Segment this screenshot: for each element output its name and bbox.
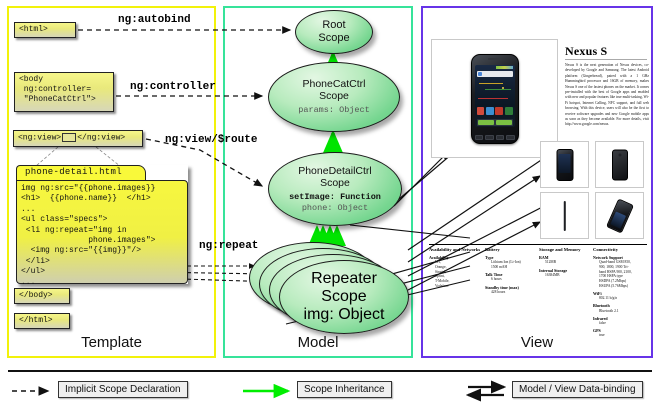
spec-group: Availability M1, Orange, Singtel, Sprint…	[429, 255, 481, 288]
search-button-icon	[496, 135, 505, 140]
code-html-open: <html>	[14, 22, 76, 38]
view-content: Nexus S Nexus S is the next generation o…	[425, 12, 649, 352]
scope-phonedetailctrl-title: PhoneDetailCtrl Scope	[298, 165, 372, 189]
dock-icon-1	[478, 120, 494, 125]
phone-hardware-buttons	[475, 135, 515, 140]
search-widget	[477, 71, 513, 77]
scope-repeater-title-line1: Repeater	[311, 270, 377, 287]
spec-group-value: 802.11 b/g/n	[593, 296, 649, 301]
thumb-front-image	[556, 149, 573, 181]
legend-item-scope-inheritance: Scope Inheritance	[297, 381, 392, 398]
phone-illustration	[471, 54, 519, 144]
spec-title-connectivity: Connectivity	[593, 247, 649, 253]
thumbnail-gallery	[540, 141, 648, 239]
spec-group-value: 1500 mAH	[485, 265, 537, 270]
spec-group: Talk Time 6 hours	[485, 272, 537, 282]
phone-screen	[475, 65, 515, 127]
scope-root-title-line1: Root	[322, 19, 345, 31]
spec-group-value: Bluetooth 2.1	[593, 309, 649, 314]
thumb-angle-image	[605, 198, 633, 233]
ngview-close-tag: </ng:view>	[77, 134, 125, 143]
scope-prop-phone: phone: Object	[302, 203, 368, 213]
code-ngview: <ng:view></ng:view>	[13, 130, 143, 147]
scope-root-title: Root Scope	[318, 19, 349, 44]
spec-group: Network Support Quad-band GSM 850, 900, …	[593, 255, 649, 288]
app-icon-4	[505, 107, 513, 115]
panel-label-template: Template	[7, 334, 216, 351]
spec-group-value: 428 hours	[485, 290, 537, 295]
diagram-canvas: <html> <body ng:controller= "PhoneCatCtr…	[0, 0, 660, 420]
scope-repeater-title: Repeater Scope	[311, 270, 377, 306]
spec-group: WiFi 802.11 b/g/n	[593, 291, 649, 301]
app-icon-3	[495, 107, 503, 115]
spec-column-battery: Battery Type Lithium Ion (Li-Ion) 1500 m…	[485, 247, 537, 294]
specs-table: Availability and Networks Availability M…	[429, 244, 647, 336]
spec-group: RAM 512MB	[539, 255, 591, 265]
spec-column-availability: Availability and Networks Availability M…	[429, 247, 481, 288]
scope-phonedetailctrl-props: setImage: Function phone: Object	[289, 192, 381, 213]
scope-phonecatctrl-title-line2: Scope	[319, 90, 349, 102]
scope-phonedetailctrl-title-line2: Scope	[320, 177, 350, 189]
scope-repeater-stack: Repeater Scope img: Object	[249, 240, 409, 336]
scope-phonecatctrl-title: PhoneCatCtrl Scope	[302, 78, 365, 102]
view-heading: Nexus S	[565, 44, 607, 59]
code-body-open: <body ng:controller= "PhoneCatCtrl">	[14, 72, 114, 112]
map-road-1	[479, 83, 503, 85]
connector-label-ng-controller: ng:controller	[130, 81, 216, 93]
scope-phonecatctrl: PhoneCatCtrl Scope params: Object	[268, 62, 400, 132]
legend-divider	[8, 370, 652, 372]
connector-label-ng-autobind: ng:autobind	[118, 14, 191, 26]
scope-repeater: Repeater Scope img: Object	[279, 260, 409, 334]
spec-group-value: false	[593, 321, 649, 326]
template-callout: phone-detail.html img ng:src="{{phone.im…	[16, 165, 188, 284]
spec-group-value: 512MB	[539, 260, 591, 265]
phone-hero-image	[431, 39, 558, 158]
phone-speaker	[488, 58, 502, 60]
app-icon-1	[477, 107, 485, 115]
scope-phonecatctrl-title-line1: PhoneCatCtrl	[302, 78, 365, 90]
spec-column-storage: Storage and Memory RAM 512MB Internal St…	[539, 247, 591, 277]
spec-group: Infrared false	[593, 316, 649, 326]
spec-group-value: 16384MB	[539, 273, 591, 278]
spec-title-availability: Availability and Networks	[429, 247, 481, 253]
code-html-close: </html>	[14, 313, 70, 329]
map-road-3	[478, 98, 508, 99]
dock-icon-2	[496, 120, 512, 125]
back-button-icon	[475, 135, 484, 140]
scope-root: Root Scope	[295, 10, 373, 54]
dock-row	[477, 119, 513, 126]
view-heading-rule	[565, 59, 647, 60]
callout-title: phone-detail.html	[16, 165, 146, 181]
scope-repeater-title-line2: Scope	[321, 288, 366, 305]
view-description: Nexus S is the next generation of Nexus …	[565, 63, 649, 128]
menu-button-icon	[485, 135, 494, 140]
thumb-front[interactable]	[540, 141, 589, 188]
thumb-back[interactable]	[595, 141, 644, 188]
scope-repeater-props: img: Object	[304, 306, 385, 324]
spec-group: Type Lithium Ion (Li-Ion) 1500 mAH	[485, 255, 537, 270]
map-marker-icon	[502, 87, 505, 90]
scope-phonedetailctrl-title-line1: PhoneDetailCtrl	[298, 165, 372, 177]
spec-column-connectivity: Connectivity Network Support Quad-band G…	[593, 247, 649, 338]
scope-prop-setimage: setImage: Function	[289, 192, 381, 202]
spec-group: Bluetooth Bluetooth 2.1	[593, 303, 649, 313]
thumb-edge-image	[563, 201, 566, 231]
ngview-open-tag: <ng:view>	[18, 134, 61, 143]
scope-prop-params: params: Object	[298, 105, 369, 115]
app-icon-2	[486, 107, 494, 115]
thumb-edge[interactable]	[540, 192, 589, 239]
specs-top-rule	[429, 244, 647, 245]
home-button-icon	[506, 135, 515, 140]
thumb-back-image	[612, 149, 628, 180]
ngview-placeholder-icon	[62, 133, 76, 142]
spec-group-value: Vodafone	[429, 284, 481, 289]
app-icon-row	[477, 107, 513, 117]
map-road-2	[485, 89, 511, 91]
panel-label-view: View	[421, 334, 653, 351]
scope-phonedetailctrl: PhoneDetailCtrl Scope setImage: Function…	[268, 152, 402, 226]
callout-code: img ng:src="{{phone.images}} <h1> {{phon…	[16, 180, 188, 284]
panel-label-model: Model	[223, 334, 413, 351]
spec-group-value: 6 hours	[485, 277, 537, 282]
spec-group-value: HSUPA (5.76Mbps)	[593, 284, 649, 289]
scope-root-title-line2: Scope	[318, 32, 349, 44]
legend-item-implicit-scope-declaration: Implicit Scope Declaration	[58, 381, 188, 398]
spec-title-storage: Storage and Memory	[539, 247, 591, 253]
scope-prop-img: img: Object	[304, 306, 385, 323]
legend-item-model-view-data-binding: Model / View Data-binding	[512, 381, 643, 398]
status-bar	[496, 66, 513, 69]
thumb-angle[interactable]	[595, 192, 644, 239]
spec-group: Internal Storage 16384MB	[539, 268, 591, 278]
scope-phonecatctrl-props: params: Object	[298, 105, 369, 116]
code-body-close: </body>	[14, 288, 70, 304]
connector-label-ng-view-route: ng:view/$route	[165, 134, 257, 146]
spec-group: Standby time (max) 428 hours	[485, 285, 537, 295]
spec-title-battery: Battery	[485, 247, 537, 253]
